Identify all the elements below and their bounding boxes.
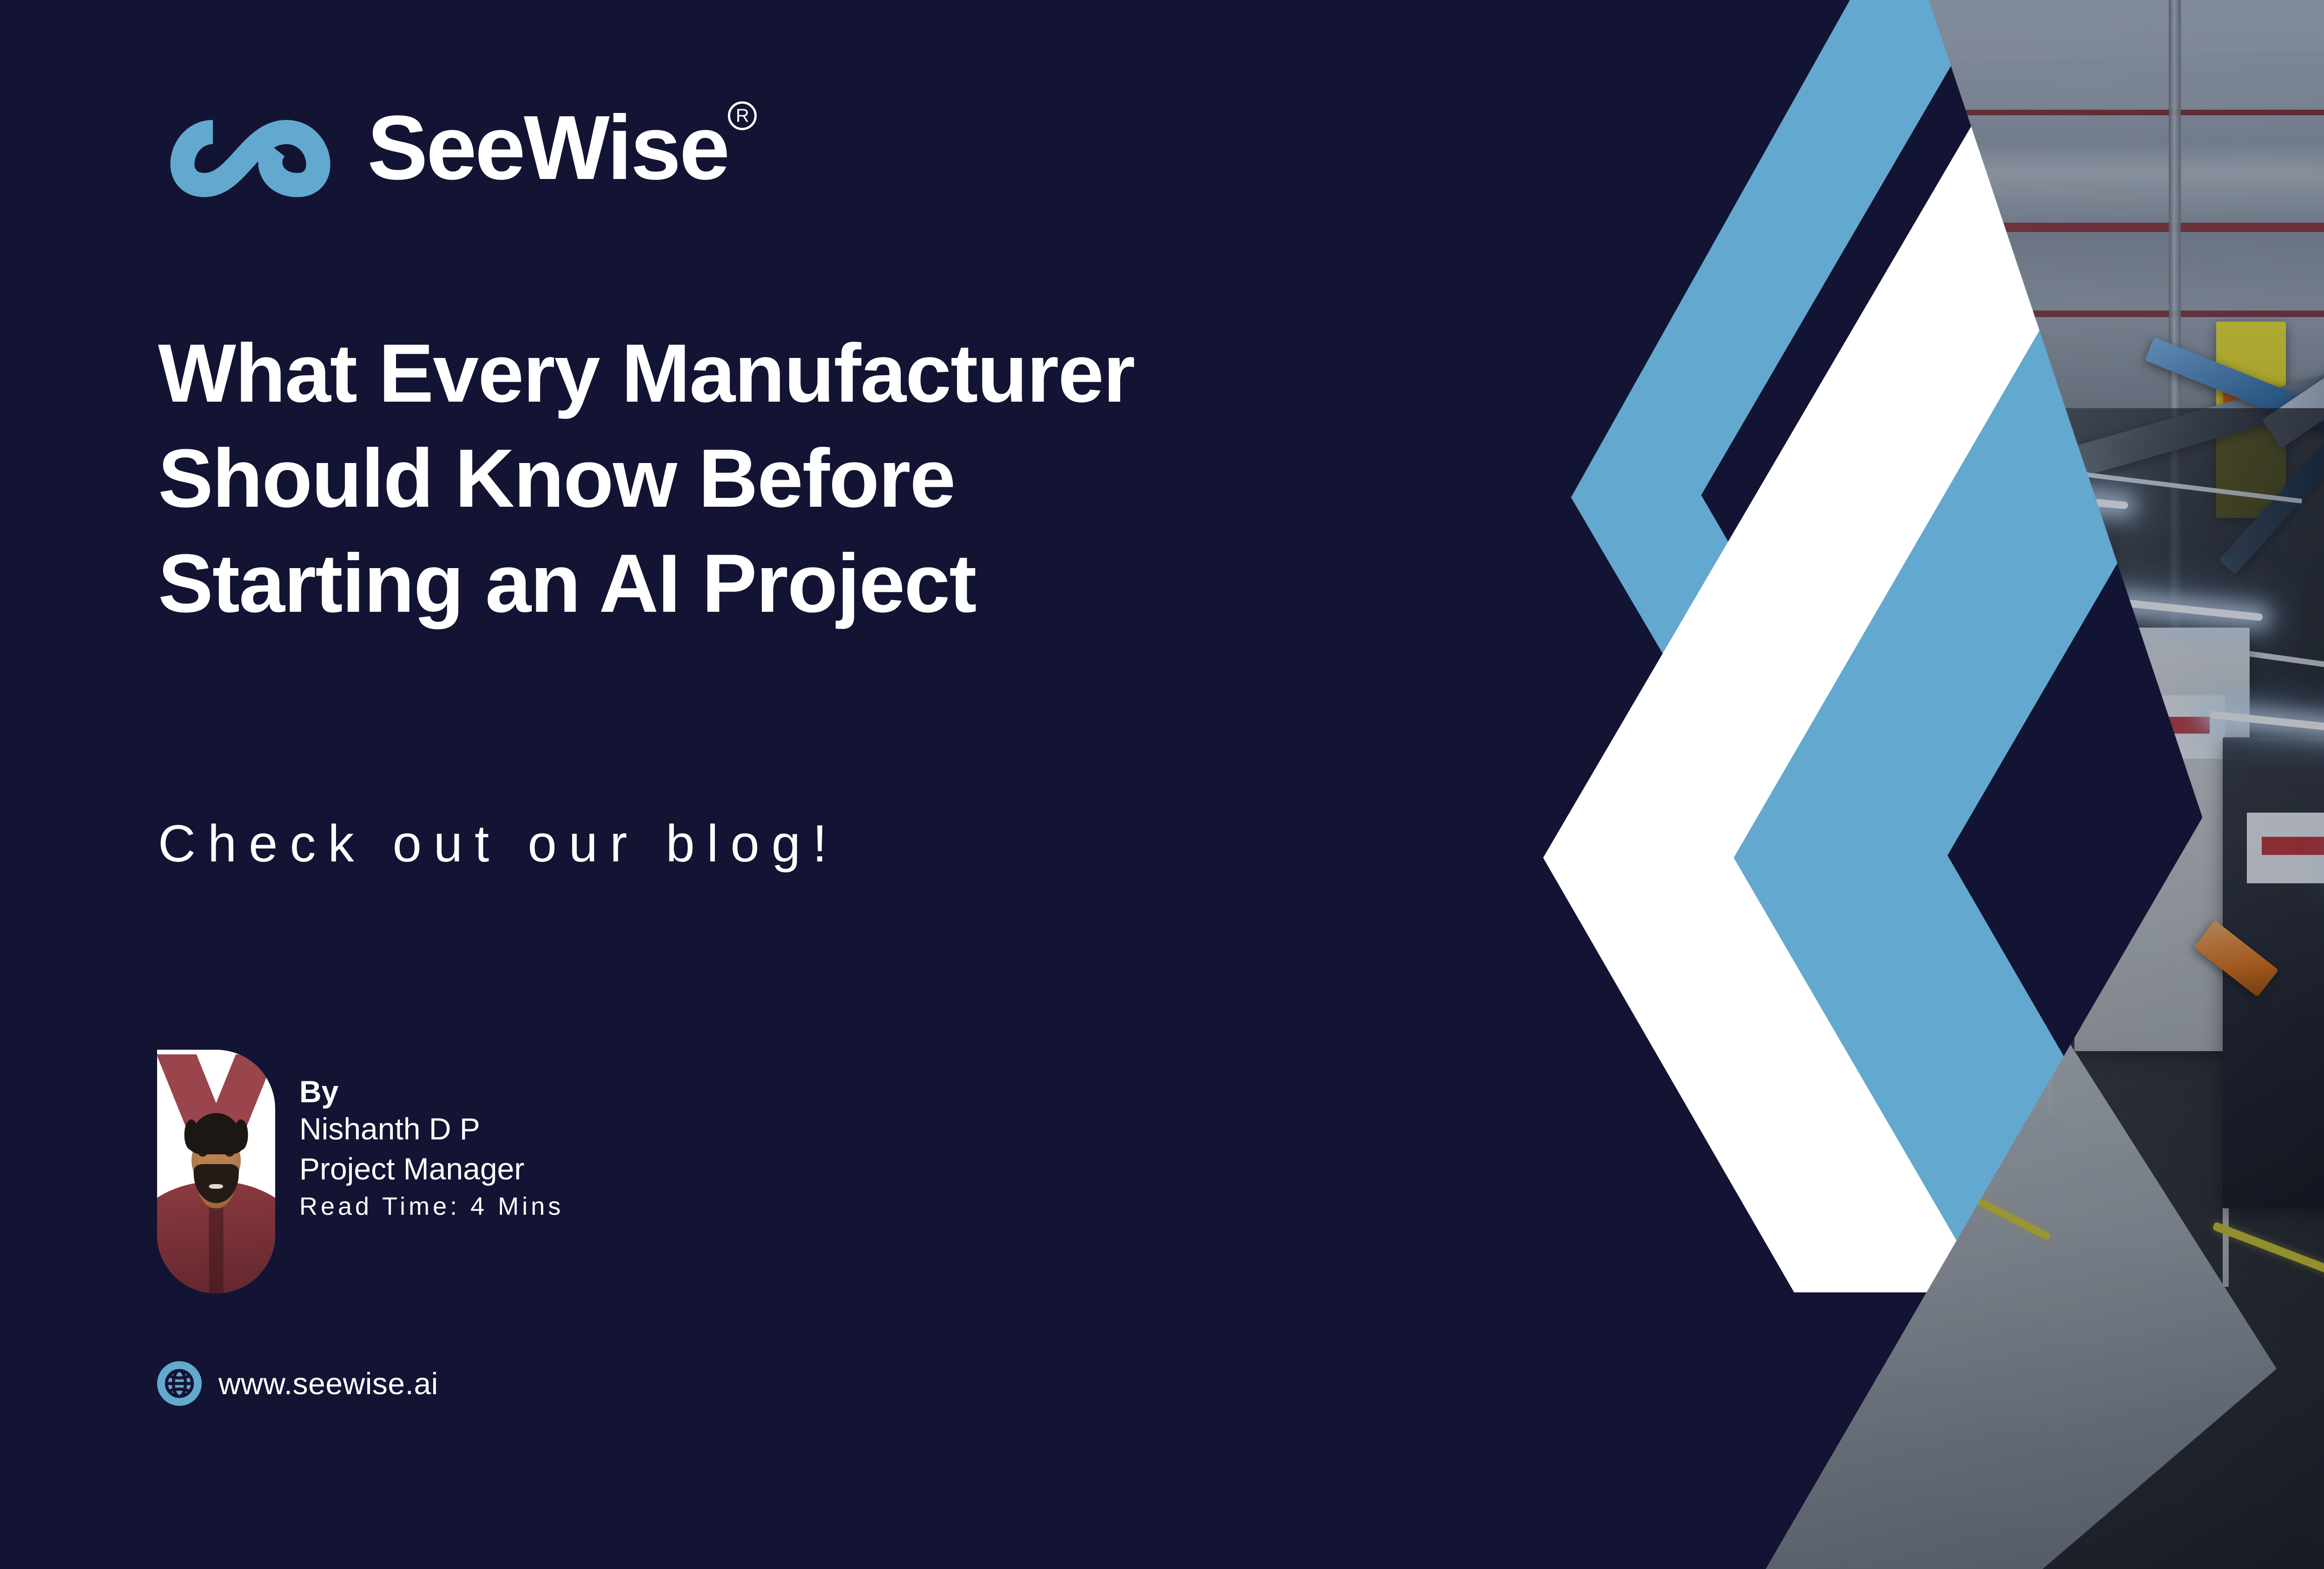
- author-role: Project Manager: [299, 1149, 564, 1189]
- infinity-eye-icon: [158, 103, 353, 214]
- artwork-panel: [1441, 0, 2324, 1569]
- website-link[interactable]: www.seewise.ai: [157, 1361, 438, 1406]
- read-time-label: Read Time: 4 Mins: [299, 1189, 564, 1224]
- author-name: Nishanth D P: [299, 1109, 564, 1149]
- registered-mark-icon: R: [728, 101, 757, 130]
- cta-text[interactable]: Check out our blog!: [158, 814, 839, 874]
- website-url: www.seewise.ai: [218, 1366, 438, 1401]
- author-details: By Nishanth D P Project Manager Read Tim…: [299, 1050, 564, 1224]
- headline-line-3: Starting an AI Project: [158, 531, 1413, 636]
- page-title: What Every Manufacturer Should Know Befo…: [158, 321, 1413, 636]
- headline-line-1: What Every Manufacturer: [158, 321, 1413, 426]
- content-column: SeeWise R What Every Manufacturer Should…: [0, 0, 1534, 1569]
- brand-logo[interactable]: SeeWise R: [158, 103, 728, 214]
- promo-canvas: SeeWise R What Every Manufacturer Should…: [0, 0, 2324, 1569]
- author-block: By Nishanth D P Project Manager Read Tim…: [157, 1050, 564, 1293]
- globe-icon: [157, 1361, 202, 1406]
- headline-line-2: Should Know Before: [158, 426, 1413, 531]
- author-by-label: By: [299, 1075, 564, 1109]
- brand-wordmark: SeeWise: [367, 103, 728, 192]
- avatar: [157, 1050, 275, 1293]
